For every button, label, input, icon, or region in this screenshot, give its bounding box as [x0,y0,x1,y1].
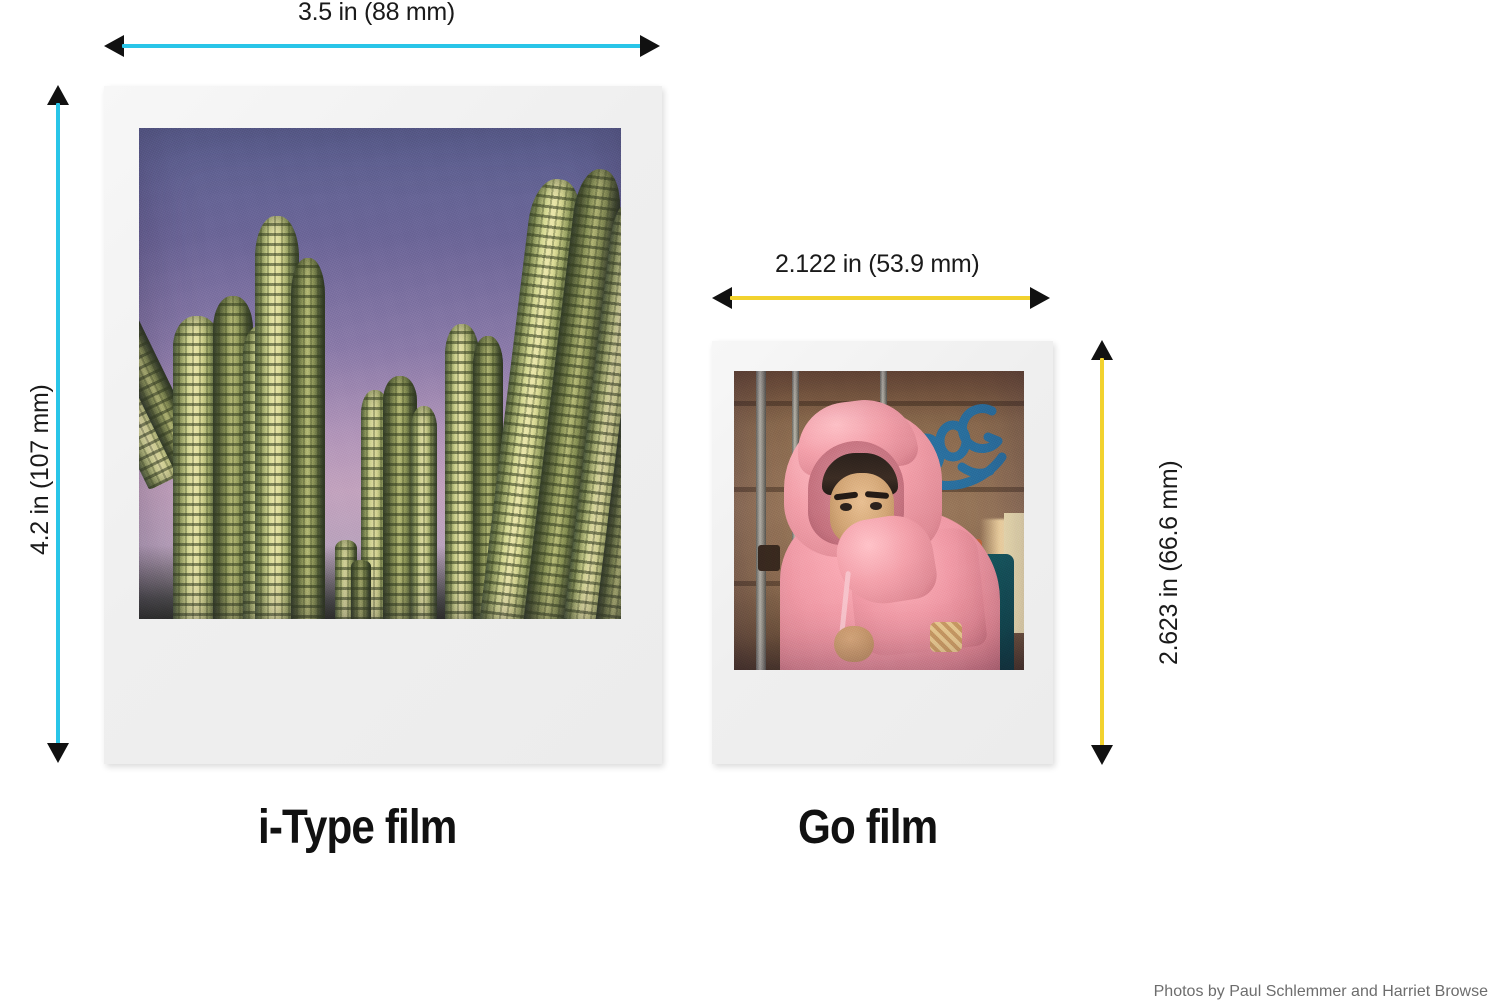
go-width-label: 2.122 in (53.9 mm) [775,250,979,279]
itype-height-arrow [47,85,69,763]
arrow-head-left-icon [712,287,732,309]
person-pink-hoodie-photo [734,371,1024,670]
itype-photo [139,128,621,619]
itype-width-arrow [104,35,660,57]
arrow-shaft [730,296,1032,300]
cactus-sunset-photo [139,128,621,619]
arrow-shaft [1100,358,1104,747]
itype-polaroid-frame [104,86,662,764]
arrow-head-up-icon [47,85,69,105]
photo-credit: Photos by Paul Schlemmer and Harriet Bro… [1154,983,1488,1001]
arrow-head-up-icon [1091,340,1113,360]
go-photo [734,371,1024,670]
go-film-name: Go film [798,800,937,855]
arrow-head-left-icon [104,35,124,57]
arrow-shaft [56,103,60,745]
go-width-arrow [712,287,1050,309]
go-height-label: 2.623 in (66.6 mm) [1155,461,1184,665]
arrow-head-down-icon [47,743,69,763]
itype-width-label: 3.5 in (88 mm) [298,0,455,27]
arrow-shaft [122,44,642,48]
go-height-arrow [1091,340,1113,765]
film-size-comparison-diagram: 3.5 in (88 mm) 4.2 in (107 mm) [0,0,1500,1007]
arrow-head-down-icon [1091,745,1113,765]
go-polaroid-frame [712,341,1053,764]
itype-film-name: i-Type film [258,800,456,855]
arrow-head-right-icon [1030,287,1050,309]
arrow-head-right-icon [640,35,660,57]
